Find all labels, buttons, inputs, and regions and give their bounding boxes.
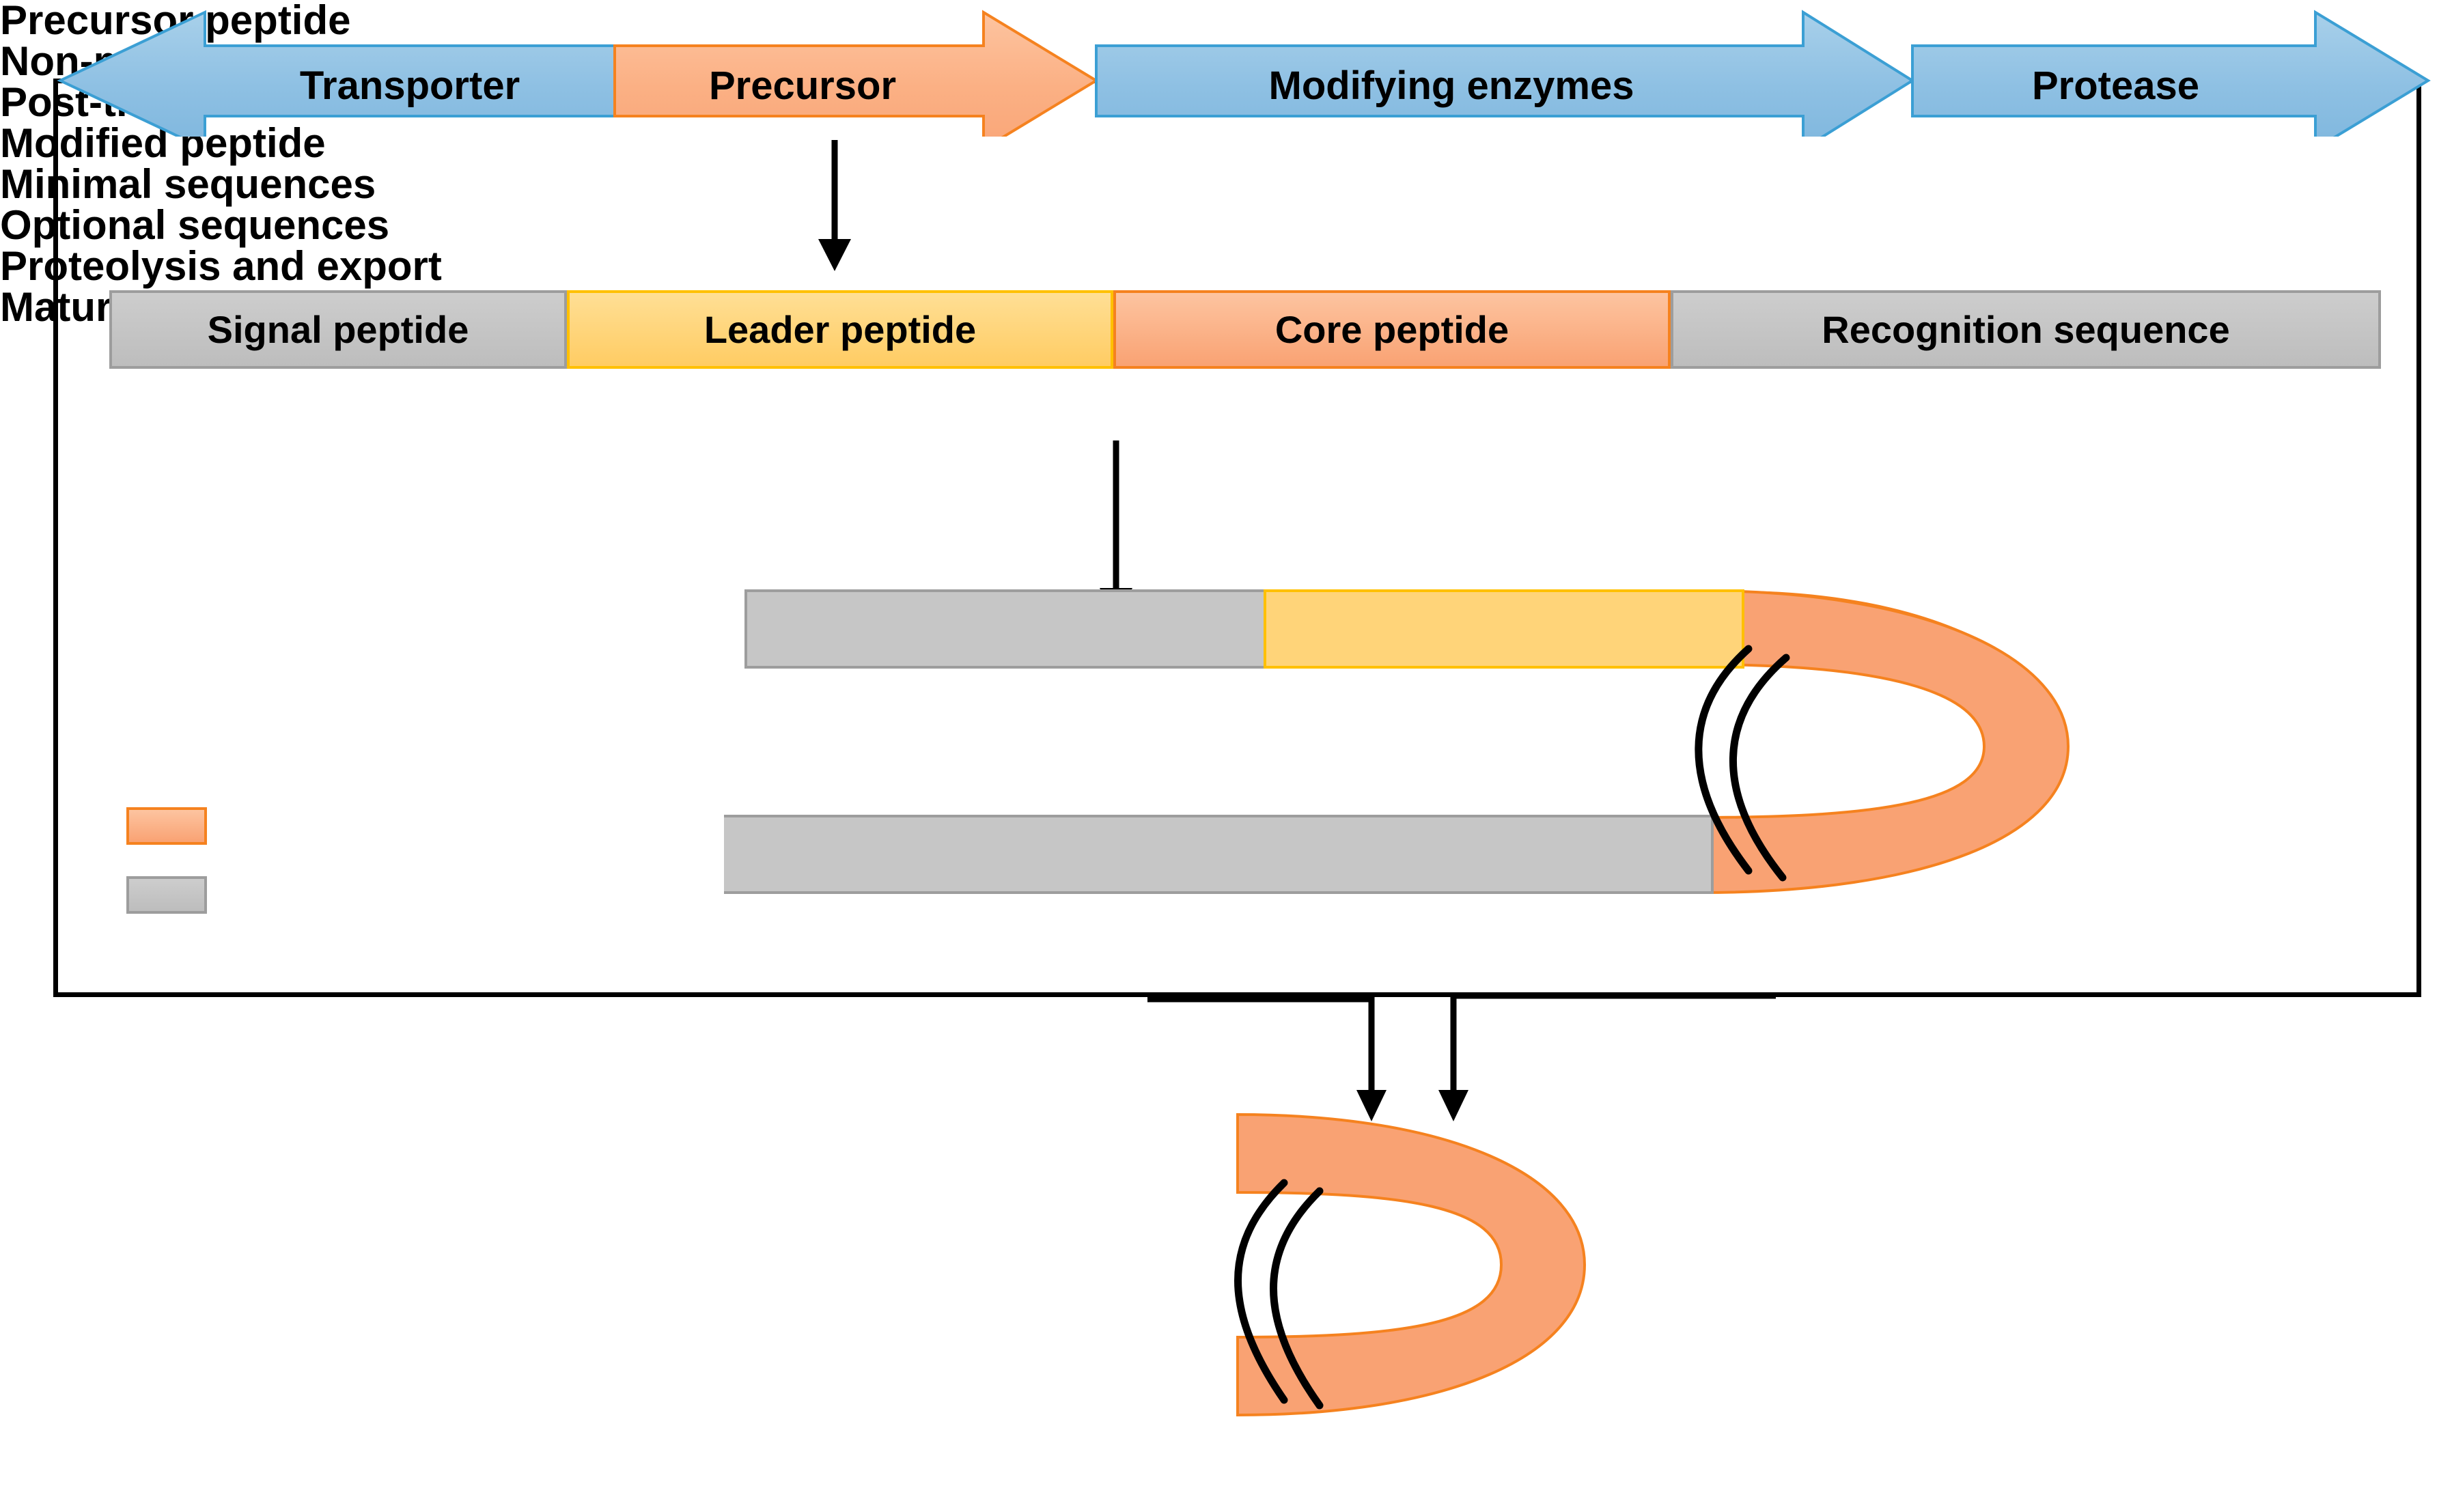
arrow-precursor-to-peptide xyxy=(806,140,888,277)
segment-label-signal-peptide: Signal peptide xyxy=(208,307,469,352)
mature-peptide-orange-band xyxy=(1238,1115,1585,1415)
gene-arrow-label-transporter: Transporter xyxy=(205,63,615,109)
legend-swatch-optional xyxy=(126,876,207,914)
ripp-biosynthesis-diagram: Transporter Precursor Modifying enzymes … xyxy=(0,0,2452,1512)
segment-label-recognition-sequence: Recognition sequence xyxy=(1822,307,2229,352)
legend-swatch-minimal xyxy=(126,807,207,845)
mature-peptide-ribbon xyxy=(1223,1106,1660,1427)
modified-peptide-gray-segment xyxy=(746,591,1265,667)
segment-leader-peptide[interactable]: Leader peptide xyxy=(567,290,1113,369)
segment-label-core-peptide: Core peptide xyxy=(1275,307,1509,352)
gene-arrow-label-protease: Protease xyxy=(1916,63,2315,109)
modified-peptide-yellow-segment xyxy=(1265,591,1743,667)
segment-recognition-sequence[interactable]: Recognition sequence xyxy=(1671,290,2381,369)
gene-arrow-label-modifying-enzymes: Modifying enzymes xyxy=(1100,63,1803,109)
modified-peptide-gray-tail xyxy=(724,816,1712,893)
modified-peptide-ribbon xyxy=(724,577,2090,932)
gene-arrow-label-precursor: Precursor xyxy=(618,63,987,109)
segment-label-leader-peptide: Leader peptide xyxy=(704,307,976,352)
segment-signal-peptide[interactable]: Signal peptide xyxy=(109,290,567,369)
modified-peptide-orange-band xyxy=(1701,591,2068,893)
segment-core-peptide[interactable]: Core peptide xyxy=(1113,290,1671,369)
